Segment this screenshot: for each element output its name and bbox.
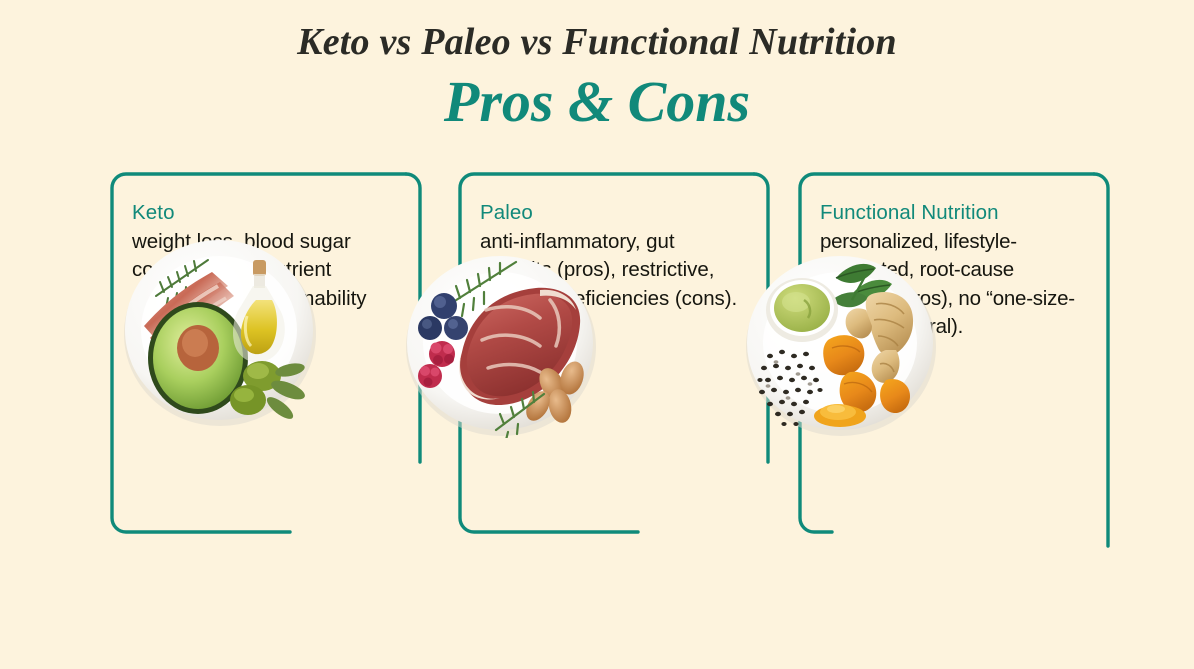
card-text-functional-nutrition: personalized, lifestyle-integrated, root… — [820, 228, 1086, 342]
card-heading-functional-nutrition: Functional Nutrition — [820, 200, 1086, 226]
page-subtitle: Pros & Cons — [0, 70, 1194, 134]
card-keto: Keto weight loss, blood sugar control (p… — [110, 172, 420, 538]
card-body-functional-nutrition: Functional Nutrition personalized, lifes… — [798, 172, 1108, 342]
card-paleo: Paleo anti-inflammatory, gut benefits (p… — [458, 172, 768, 538]
card-functional-nutrition: Functional Nutrition personalized, lifes… — [798, 172, 1108, 538]
card-text-keto: weight loss, blood sugar control (pros),… — [132, 228, 398, 342]
title-block: Keto vs Paleo vs Functional Nutrition Pr… — [0, 22, 1194, 134]
card-row: Keto weight loss, blood sugar control (p… — [0, 172, 1194, 572]
card-heading-keto: Keto — [132, 200, 398, 226]
infographic-canvas: Keto vs Paleo vs Functional Nutrition Pr… — [0, 0, 1194, 669]
card-heading-paleo: Paleo — [480, 200, 746, 226]
page-title: Keto vs Paleo vs Functional Nutrition — [0, 22, 1194, 64]
card-text-paleo: anti-inflammatory, gut benefits (pros), … — [480, 228, 746, 314]
card-body-keto: Keto weight loss, blood sugar control (p… — [110, 172, 420, 342]
card-body-paleo: Paleo anti-inflammatory, gut benefits (p… — [458, 172, 768, 313]
